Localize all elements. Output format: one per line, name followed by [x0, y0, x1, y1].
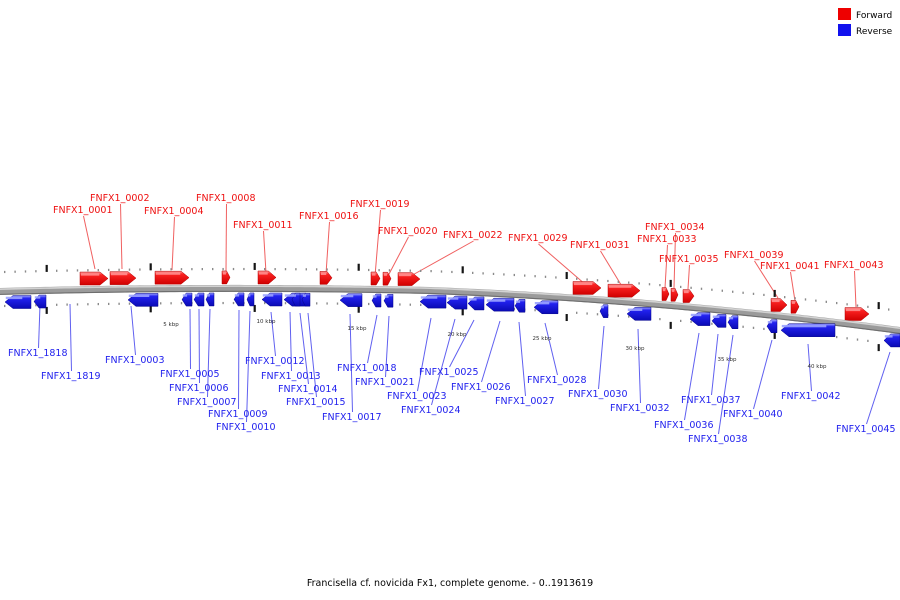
- gene-label[interactable]: FNFX1_0017: [322, 412, 382, 423]
- gene-label[interactable]: FNFX1_0035: [659, 254, 719, 265]
- tick-mark-below: [742, 326, 743, 328]
- tick-mark-above: [118, 269, 119, 271]
- gene-label[interactable]: FNFX1_0043: [824, 260, 884, 271]
- tick-mark-above: [597, 279, 598, 281]
- tick-mark-below: [420, 304, 421, 306]
- label-leader-line: [239, 310, 240, 409]
- scale-label: 10 kbp: [257, 319, 276, 325]
- tick-mark-above: [191, 268, 192, 270]
- tick-mark-above: [784, 296, 785, 298]
- tick-mark-below: [618, 315, 619, 317]
- gene-label[interactable]: FNFX1_0042: [781, 391, 841, 402]
- gene-label[interactable]: FNFX1_0003: [105, 355, 165, 366]
- gene-label[interactable]: FNFX1_0032: [610, 403, 670, 414]
- gene-label[interactable]: FNFX1_0008: [196, 193, 256, 204]
- scale-label: 15 kbp: [348, 326, 367, 332]
- tick-mark-below: [576, 312, 577, 314]
- tick-mark-above: [389, 269, 390, 271]
- tick-mark-below: [56, 304, 57, 306]
- gene-label[interactable]: FNFX1_0040: [723, 409, 783, 420]
- tick-mark-above: [295, 268, 296, 270]
- tick-mark-above: [763, 294, 764, 296]
- tick-mark-below: [77, 303, 78, 305]
- tick-mark-below: [680, 320, 681, 322]
- tick-mark-above: [4, 271, 5, 273]
- tick-mark-above: [462, 266, 464, 273]
- tick-mark-above: [202, 268, 203, 270]
- tick-mark-above: [77, 269, 78, 271]
- tick-mark-below: [285, 302, 286, 304]
- tick-mark-above: [794, 297, 795, 299]
- tick-mark-above: [493, 273, 494, 275]
- tick-mark-below: [160, 302, 161, 304]
- tick-mark-above: [472, 272, 473, 274]
- legend-swatch-reverse: [838, 24, 851, 36]
- tick-mark-below: [129, 303, 130, 305]
- tick-mark-above: [545, 276, 546, 278]
- gene-label[interactable]: FNFX1_0006: [169, 383, 229, 394]
- tick-mark-below: [410, 304, 411, 306]
- scale-label: 40 kbp: [808, 364, 827, 370]
- tick-mark-above: [867, 306, 868, 308]
- gene-label[interactable]: FNFX1_0030: [568, 389, 628, 400]
- tick-mark-above: [701, 288, 702, 290]
- scale-label: 20 kbp: [448, 332, 467, 338]
- tick-mark-above: [98, 269, 99, 271]
- tick-mark-below: [659, 318, 660, 320]
- tick-mark-above: [160, 268, 161, 270]
- gene-label[interactable]: FNFX1_0013: [261, 371, 321, 382]
- tick-mark-below: [566, 314, 568, 321]
- tick-mark-above: [254, 263, 256, 270]
- tick-mark-above: [368, 269, 369, 271]
- tick-mark-above: [441, 270, 442, 272]
- tick-mark-above: [222, 268, 223, 270]
- tick-mark-above: [659, 284, 660, 286]
- gene-label[interactable]: FNFX1_0028: [527, 375, 587, 386]
- tick-mark-above: [347, 269, 348, 271]
- tick-mark-below: [326, 302, 327, 304]
- tick-mark-above: [742, 292, 743, 294]
- label-leader-line: [190, 309, 191, 369]
- tick-mark-below: [170, 302, 171, 304]
- gene-label[interactable]: FNFX1_0021: [355, 377, 415, 388]
- tick-mark-below: [836, 336, 837, 338]
- tick-mark-above: [628, 281, 629, 283]
- tick-mark-above: [14, 271, 15, 273]
- tick-mark-above: [25, 270, 26, 272]
- tick-mark-below: [98, 303, 99, 305]
- gene-label[interactable]: FNFX1_0019: [350, 199, 410, 210]
- tick-mark-above: [753, 293, 754, 295]
- gene-label[interactable]: FNFX1_0031: [570, 240, 630, 251]
- label-leader-line: [226, 204, 227, 272]
- genome-map-canvas: Forward Reverse FNFX1_0001FNFX1_0002FNFX…: [0, 0, 900, 600]
- tick-mark-above: [337, 268, 338, 270]
- tick-mark-above: [46, 265, 48, 272]
- gene-label[interactable]: FNFX1_0005: [160, 369, 220, 380]
- tick-mark-above: [129, 269, 130, 271]
- gene-label[interactable]: FNFX1_0041: [760, 261, 820, 272]
- tick-mark-above: [857, 304, 858, 306]
- tick-mark-below: [690, 321, 691, 323]
- tick-mark-below: [316, 302, 317, 304]
- tick-mark-below: [399, 303, 400, 305]
- tick-mark-below: [763, 328, 764, 330]
- gene-label[interactable]: FNFX1_0025: [419, 367, 479, 378]
- tick-mark-above: [274, 268, 275, 270]
- tick-mark-above: [264, 268, 265, 270]
- gene-label[interactable]: FNFX1_0024: [401, 405, 461, 416]
- tick-mark-below: [4, 305, 5, 307]
- tick-mark-above: [306, 268, 307, 270]
- gene-label[interactable]: FNFX1_0036: [654, 420, 714, 431]
- tick-mark-above: [878, 302, 880, 309]
- tick-mark-above: [410, 270, 411, 272]
- gene-label[interactable]: FNFX1_1819: [41, 371, 101, 382]
- tick-mark-above: [555, 276, 556, 278]
- gene-label[interactable]: FNFX1_0026: [451, 382, 511, 393]
- gene-label[interactable]: FNFX1_1818: [8, 348, 68, 359]
- gene-label[interactable]: FNFX1_0001: [53, 205, 113, 216]
- tick-mark-above: [233, 268, 234, 270]
- tick-mark-above: [805, 298, 806, 300]
- tick-mark-below: [181, 302, 182, 304]
- gene-label[interactable]: FNFX1_0009: [208, 409, 268, 420]
- tick-mark-above: [316, 268, 317, 270]
- scale-label: 5 kbp: [163, 322, 179, 328]
- gene-label[interactable]: FNFX1_0012: [245, 356, 305, 367]
- tick-mark-above: [722, 290, 723, 292]
- gene-label[interactable]: FNFX1_0016: [299, 211, 359, 222]
- legend-swatch-forward: [838, 8, 851, 20]
- tick-mark-below: [66, 304, 67, 306]
- tick-mark-above: [87, 269, 88, 271]
- tick-mark-above: [826, 301, 827, 303]
- tick-mark-below: [753, 327, 754, 329]
- tick-mark-below: [118, 303, 119, 305]
- tick-mark-below: [867, 340, 868, 342]
- tick-mark-above: [243, 268, 244, 270]
- tick-mark-above: [670, 280, 672, 287]
- scale-label: 25 kbp: [533, 336, 552, 342]
- tick-mark-above: [285, 268, 286, 270]
- tick-mark-above: [326, 268, 327, 270]
- gene-label[interactable]: FNFX1_0027: [495, 396, 555, 407]
- tick-mark-above: [150, 263, 152, 270]
- tick-mark-above: [618, 281, 619, 283]
- tick-mark-above: [680, 286, 681, 288]
- figure-caption: Francisella cf. novicida Fx1, complete g…: [307, 578, 593, 589]
- tick-mark-below: [534, 309, 535, 311]
- tick-mark-above: [607, 280, 608, 282]
- tick-mark-above: [503, 273, 504, 275]
- tick-mark-above: [378, 269, 379, 271]
- tick-mark-above: [108, 269, 109, 271]
- tick-mark-below: [368, 303, 369, 305]
- gene-label[interactable]: FNFX1_0045: [836, 424, 896, 435]
- gene-label[interactable]: FNFX1_0002: [90, 193, 150, 204]
- tick-mark-below: [846, 337, 847, 339]
- tick-mark-above: [638, 282, 639, 284]
- tick-mark-below: [670, 322, 672, 329]
- scale-label: 30 kbp: [626, 346, 645, 352]
- tick-mark-above: [35, 270, 36, 272]
- tick-mark-above: [690, 287, 691, 289]
- tick-mark-above: [430, 270, 431, 272]
- tick-mark-above: [566, 272, 568, 279]
- gene-feature[interactable]: FNFX1_0042: [781, 324, 835, 337]
- gene-label[interactable]: FNFX1_0010: [216, 422, 276, 433]
- gene-label[interactable]: FNFX1_0033: [637, 234, 697, 245]
- tick-mark-below: [337, 302, 338, 304]
- gene-label[interactable]: FNFX1_0018: [337, 363, 397, 374]
- tick-mark-above: [139, 268, 140, 270]
- tick-mark-above: [576, 278, 577, 280]
- genome-map-figure: Forward Reverse FNFX1_0001FNFX1_0002FNFX…: [0, 0, 900, 600]
- tick-mark-below: [597, 313, 598, 315]
- gene-label[interactable]: FNFX1_0034: [645, 222, 705, 233]
- tick-mark-above: [66, 270, 67, 272]
- tick-mark-below: [462, 308, 464, 315]
- gene-label[interactable]: FNFX1_0029: [508, 233, 568, 244]
- tick-mark-above: [711, 289, 712, 291]
- tick-mark-above: [358, 264, 360, 271]
- tick-mark-above: [888, 308, 889, 310]
- gene-label[interactable]: FNFX1_0015: [286, 397, 346, 408]
- tick-mark-above: [534, 275, 535, 277]
- gene-label[interactable]: FNFX1_0011: [233, 220, 293, 231]
- tick-mark-above: [836, 302, 837, 304]
- tick-mark-above: [451, 271, 452, 273]
- tick-mark-above: [482, 272, 483, 274]
- tick-mark-above: [815, 300, 816, 302]
- tick-mark-below: [108, 303, 109, 305]
- tick-mark-above: [514, 274, 515, 276]
- tick-mark-below: [711, 323, 712, 325]
- tick-mark-above: [524, 274, 525, 276]
- gene-label[interactable]: FNFX1_0039: [724, 250, 784, 261]
- gene-label[interactable]: FNFX1_0037: [681, 395, 741, 406]
- tick-mark-above: [846, 303, 847, 305]
- tick-mark-below: [586, 312, 587, 314]
- gene-label[interactable]: FNFX1_0004: [144, 206, 204, 217]
- legend-label-reverse: Reverse: [856, 27, 893, 37]
- gene-label[interactable]: FNFX1_0014: [278, 384, 338, 395]
- tick-mark-above: [170, 268, 171, 270]
- scale-label: 35 kbp: [718, 357, 737, 363]
- gene-label[interactable]: FNFX1_0038: [688, 434, 748, 445]
- tick-mark-below: [87, 303, 88, 305]
- gene-label[interactable]: FNFX1_0023: [387, 391, 447, 402]
- tick-mark-below: [233, 302, 234, 304]
- tick-mark-above: [420, 270, 421, 272]
- tick-mark-above: [774, 290, 776, 297]
- tick-mark-above: [649, 283, 650, 285]
- tick-mark-above: [586, 278, 587, 280]
- tick-mark-below: [222, 302, 223, 304]
- gene-label[interactable]: FNFX1_0022: [443, 230, 503, 241]
- legend-label-forward: Forward: [856, 11, 892, 21]
- gene-label[interactable]: FNFX1_0020: [378, 226, 438, 237]
- tick-mark-above: [56, 270, 57, 272]
- tick-mark-above: [181, 268, 182, 270]
- gene-label[interactable]: FNFX1_0007: [177, 397, 237, 408]
- tick-mark-above: [732, 291, 733, 293]
- tick-mark-below: [857, 338, 858, 340]
- tick-mark-above: [399, 269, 400, 271]
- tick-mark-above: [212, 268, 213, 270]
- tick-mark-below: [878, 344, 880, 351]
